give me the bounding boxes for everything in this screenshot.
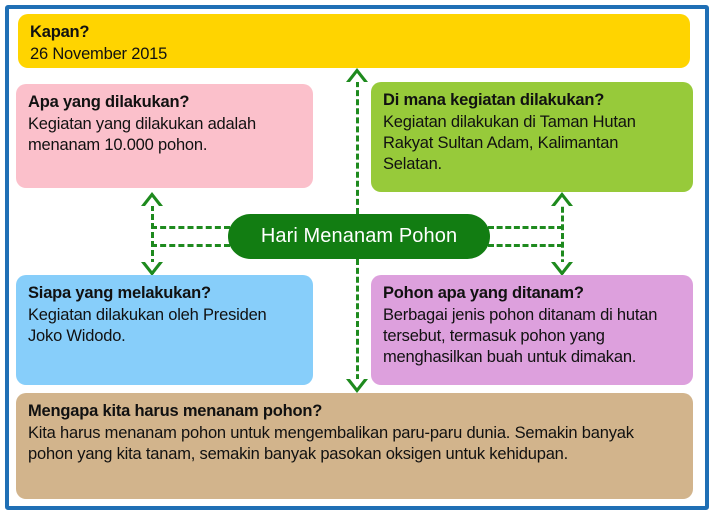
node-what: Apa yang dilakukan? Kegiatan yang dilaku… [16, 84, 313, 188]
arrowhead-to-why [346, 379, 368, 393]
mind-map-diagram: Kapan? 26 November 2015 Apa yang dilakuk… [0, 0, 714, 515]
node-where-question: Di mana kegiatan dilakukan? [383, 90, 681, 111]
node-who-question: Siapa yang melakukan? [28, 283, 301, 304]
node-when-question: Kapan? [30, 22, 678, 43]
node-why: Mengapa kita harus menanam pohon? Kita h… [16, 393, 693, 499]
node-who-answer: Kegiatan dilakukan oleh Presiden Joko Wi… [28, 305, 301, 347]
arrowhead-to-which [551, 262, 573, 276]
center-node: Hari Menanam Pohon [228, 214, 490, 259]
node-which-question: Pohon apa yang ditanam? [383, 283, 681, 304]
arrowhead-to-where [551, 192, 573, 206]
connector-center-to-when [356, 72, 359, 214]
node-which-answer: Berbagai jenis pohon ditanam di hutan te… [383, 305, 681, 368]
node-why-answer: Kita harus menanam pohon untuk mengembal… [28, 423, 681, 465]
arrowhead-to-when [346, 68, 368, 82]
node-when-answer: 26 November 2015 [30, 44, 678, 65]
connector-center-to-left-lower [151, 244, 230, 247]
arrowhead-to-who [141, 262, 163, 276]
node-what-answer: Kegiatan yang dilakukan adalah menanam 1… [28, 114, 301, 156]
node-which: Pohon apa yang ditanam? Berbagai jenis p… [371, 275, 693, 385]
node-why-question: Mengapa kita harus menanam pohon? [28, 401, 681, 422]
node-where: Di mana kegiatan dilakukan? Kegiatan dil… [371, 82, 693, 192]
center-node-label: Hari Menanam Pohon [261, 225, 457, 248]
node-where-answer: Kegiatan dilakukan di Taman Hutan Rakyat… [383, 112, 681, 175]
node-who: Siapa yang melakukan? Kegiatan dilakukan… [16, 275, 313, 385]
node-what-question: Apa yang dilakukan? [28, 92, 301, 113]
arrowhead-to-what [141, 192, 163, 206]
connector-center-to-right-upper [488, 226, 563, 229]
connector-center-to-left-upper [151, 226, 230, 229]
connector-center-to-why [356, 259, 359, 389]
node-when: Kapan? 26 November 2015 [18, 14, 690, 68]
connector-center-to-right-lower [488, 244, 563, 247]
